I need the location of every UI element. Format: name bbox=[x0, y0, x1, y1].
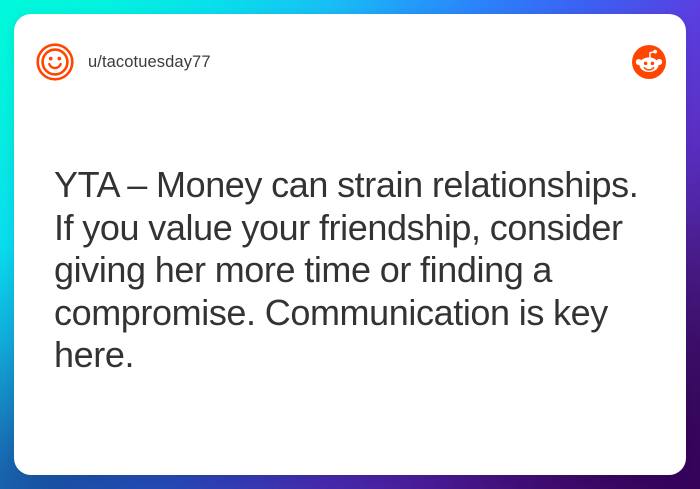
card-body: YTA – Money can strain relationships. If… bbox=[54, 164, 640, 377]
gradient-background: u/tacotuesday77 bbox=[0, 0, 700, 489]
smiley-face-avatar-icon bbox=[36, 43, 74, 81]
username-label: u/tacotuesday77 bbox=[88, 53, 211, 72]
card-header: u/tacotuesday77 bbox=[14, 14, 686, 110]
reddit-comment-card: u/tacotuesday77 bbox=[14, 14, 686, 475]
post-text: YTA – Money can strain relationships. If… bbox=[54, 164, 640, 377]
reddit-logo[interactable] bbox=[632, 45, 666, 79]
reddit-snoo-logo-icon bbox=[632, 45, 666, 79]
avatar[interactable] bbox=[36, 43, 74, 81]
